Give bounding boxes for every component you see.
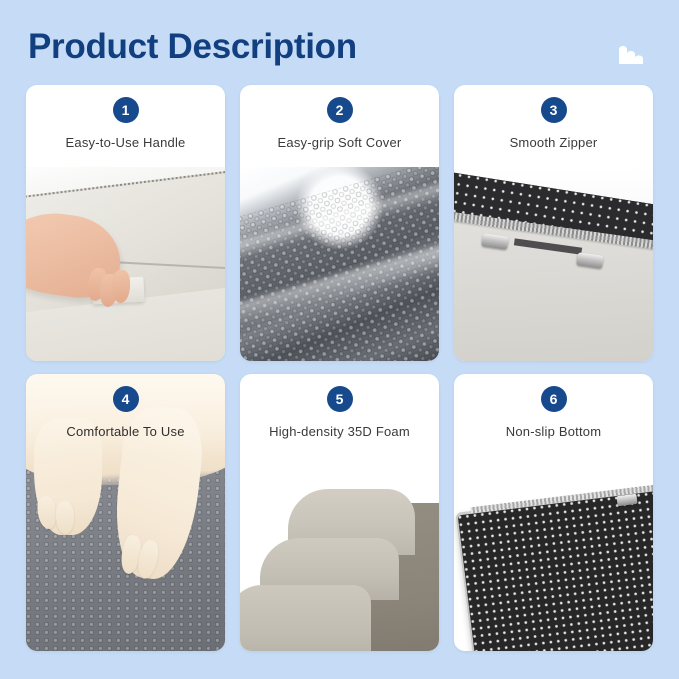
feature-card-5[interactable]: 5 High-density 35D Foam	[240, 374, 439, 651]
page-title: Product Description	[28, 26, 357, 68]
feature-card-6[interactable]: 6 Non-slip Bottom	[454, 374, 653, 651]
non-slip-bottom-photo	[454, 456, 653, 651]
card-6-label: Non-slip Bottom	[454, 424, 653, 439]
card-2-head: 2 Easy-grip Soft Cover	[240, 85, 439, 150]
card-5-head: 5 High-density 35D Foam	[240, 374, 439, 439]
feature-card-4[interactable]: 4 Comfortable To Use	[26, 374, 225, 651]
card-3-label: Smooth Zipper	[454, 135, 653, 150]
card-1-head: 1 Easy-to-Use Handle	[26, 85, 225, 150]
chenille-fabric-closeup-photo	[240, 167, 439, 361]
card-6-head: 6 Non-slip Bottom	[454, 374, 653, 439]
stairs-icon	[618, 41, 648, 65]
card-3-head: 3 Smooth Zipper	[454, 85, 653, 150]
foam-stairs-photo	[240, 456, 439, 651]
feature-card-1[interactable]: 1 Easy-to-Use Handle	[26, 85, 225, 361]
hand-pulling-handle-photo	[26, 167, 225, 361]
card-6-badge: 6	[541, 386, 567, 412]
card-1-label: Easy-to-Use Handle	[26, 135, 225, 150]
card-5-label: High-density 35D Foam	[240, 424, 439, 439]
card-2-badge: 2	[327, 97, 353, 123]
feature-card-2[interactable]: 2 Easy-grip Soft Cover	[240, 85, 439, 361]
feature-card-3[interactable]: 3 Smooth Zipper	[454, 85, 653, 361]
card-2-label: Easy-grip Soft Cover	[240, 135, 439, 150]
zipper-closeup-photo	[454, 167, 653, 361]
feature-card-grid: 1 Easy-to-Use Handle 2 Easy-grip Soft Co…	[26, 85, 653, 651]
page-header: Product Description	[0, 0, 679, 82]
card-1-badge: 1	[113, 97, 139, 123]
card-3-badge: 3	[541, 97, 567, 123]
card-5-badge: 5	[327, 386, 353, 412]
dog-paws-on-cover-photo	[26, 374, 225, 651]
